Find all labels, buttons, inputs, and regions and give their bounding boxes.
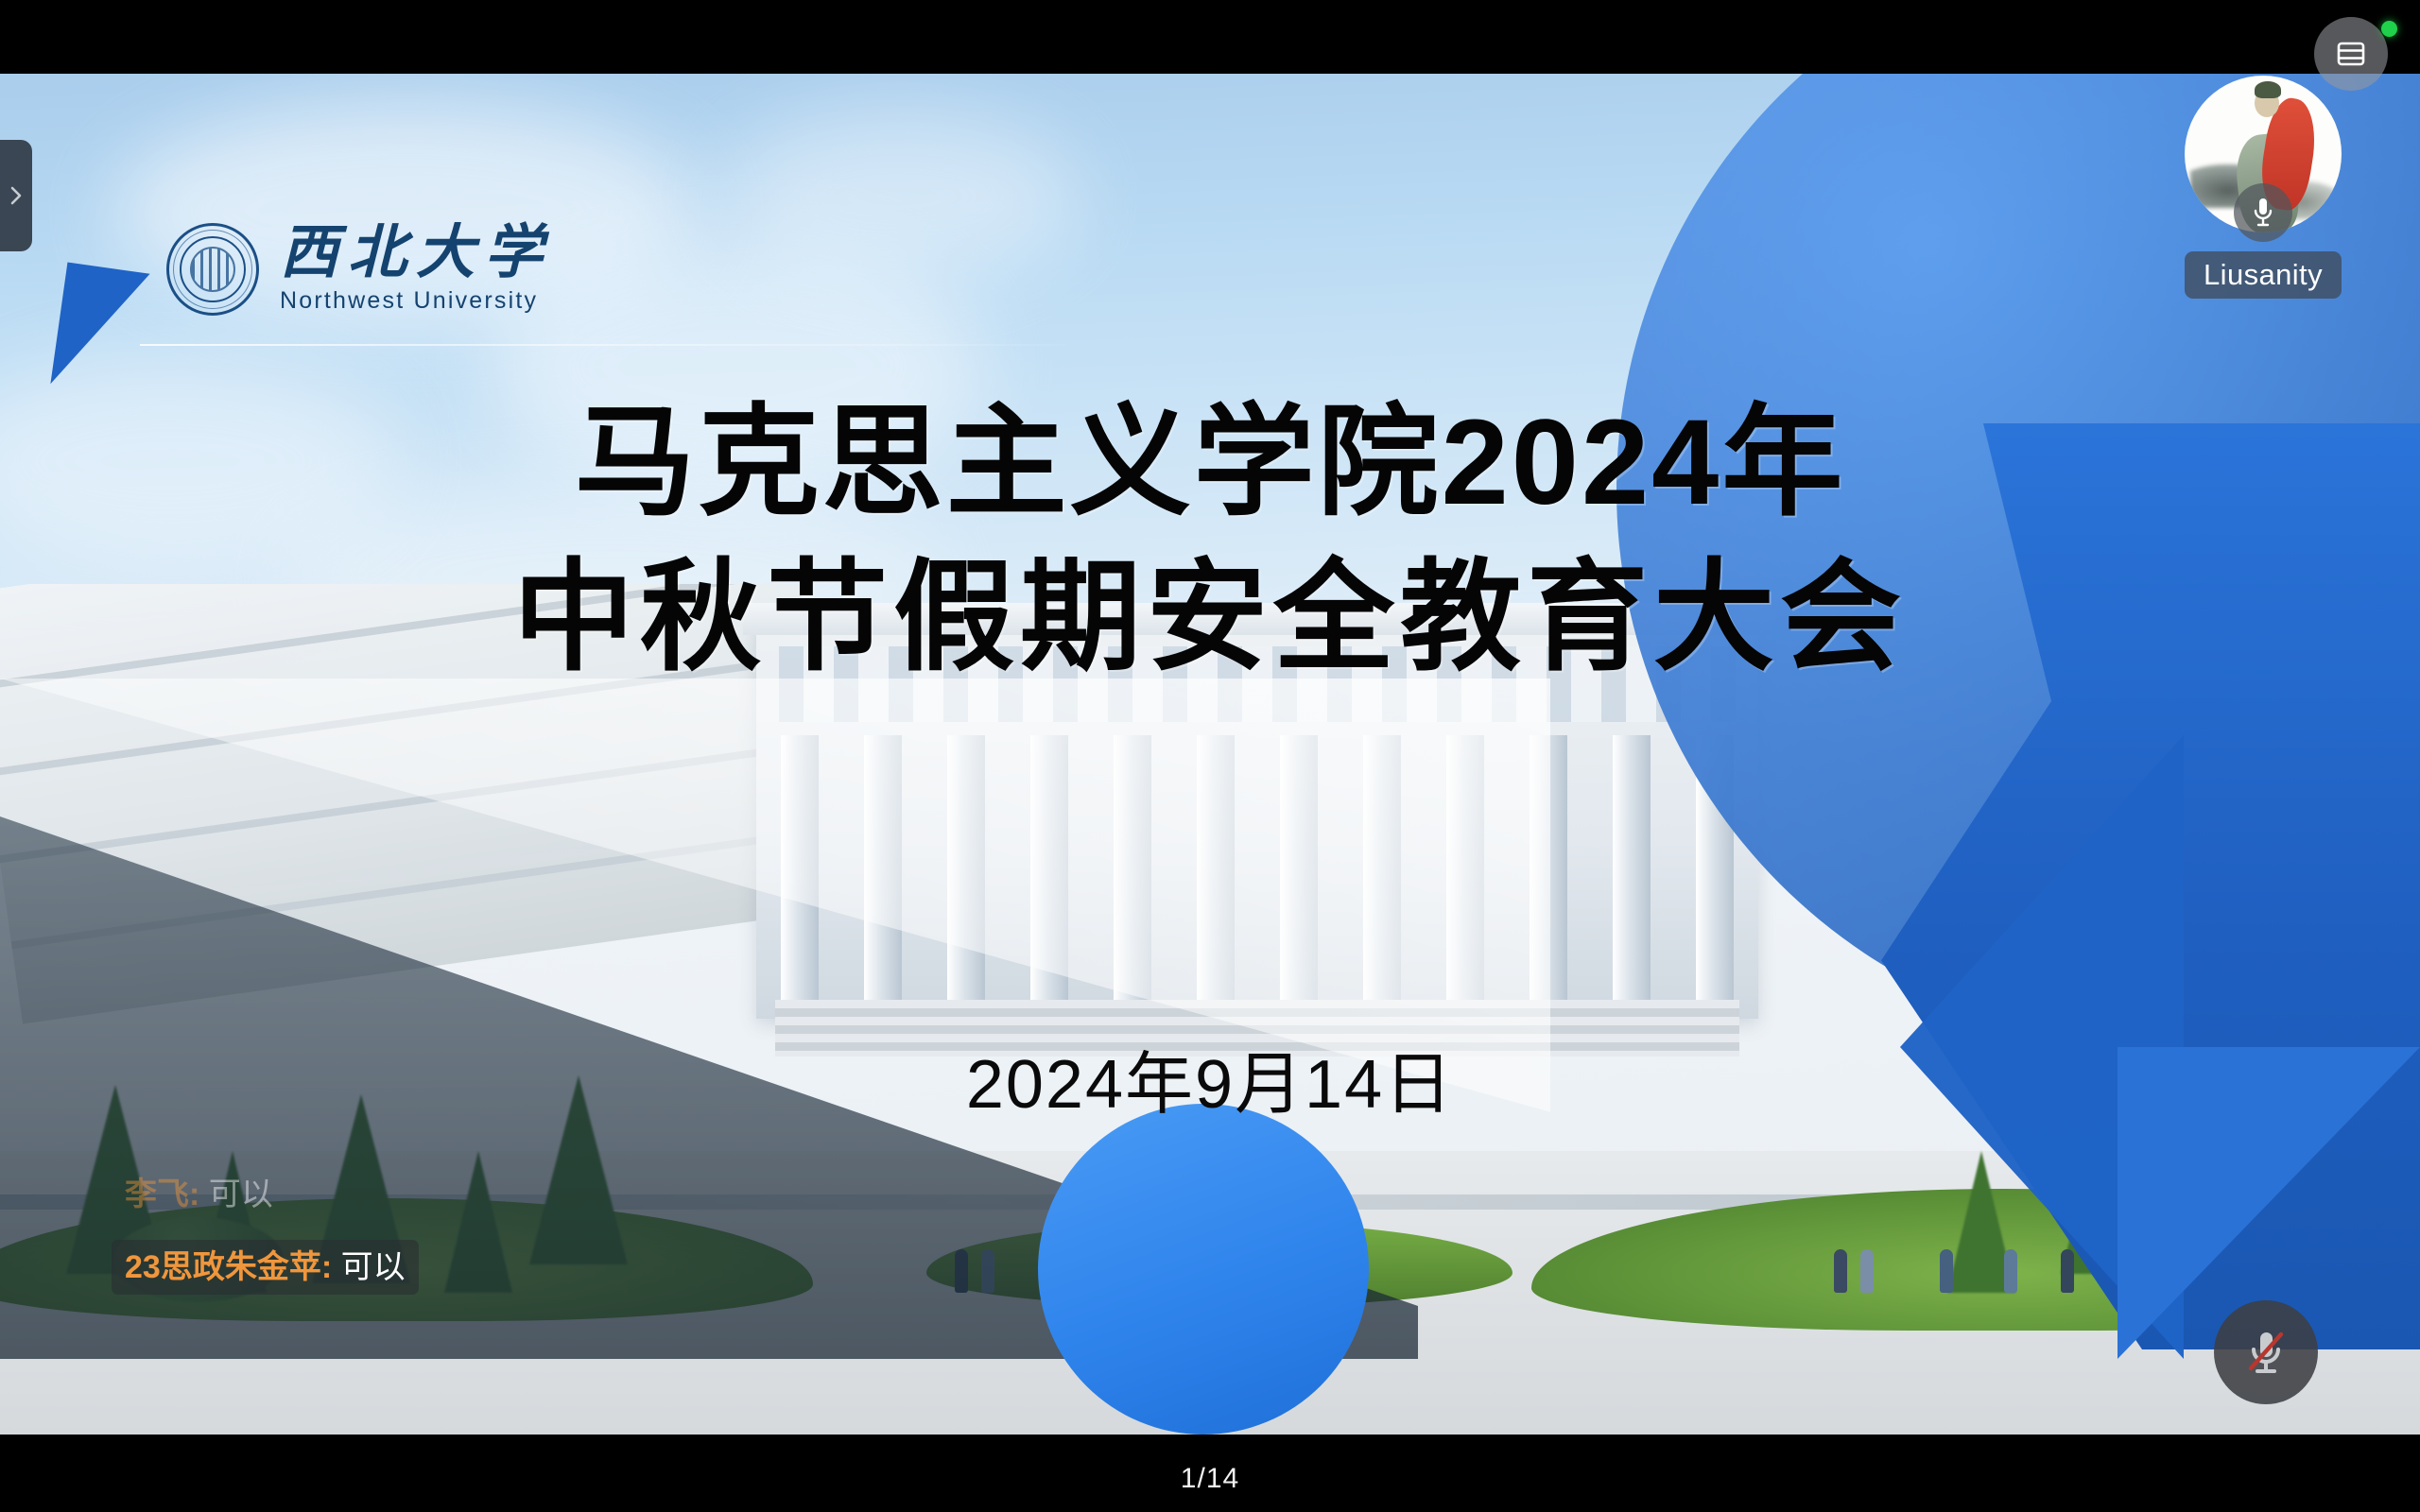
logo-divider	[140, 344, 1066, 346]
decorative-triangle	[50, 263, 149, 396]
participant-name: Liusanity	[2185, 251, 2342, 299]
decorative-circle-bottom	[1038, 1104, 1369, 1435]
chat-text: 可以	[341, 1249, 406, 1285]
slide-title-block: 马克思主义学院2024年 中秋节假期安全教育大会	[0, 386, 2420, 696]
university-logo: 西北大学 Northwest University	[166, 223, 552, 316]
cloud-decoration	[718, 112, 1078, 282]
shared-slide[interactable]: 西北大学 Northwest University 马克思主义学院2024年 中…	[0, 74, 2420, 1435]
chat-separator: :	[321, 1249, 341, 1285]
microphone-muted-icon	[2239, 1323, 2292, 1382]
slide-title-line-1: 马克思主义学院2024年	[0, 386, 2420, 541]
person	[1860, 1249, 1874, 1293]
university-seal-icon	[166, 223, 259, 316]
slide-page-indicator: 1/14	[0, 1463, 2420, 1495]
chat-message: 李飞: 可以	[112, 1167, 286, 1223]
chevron-right-icon	[8, 181, 25, 210]
chat-sender: 李飞	[125, 1177, 189, 1212]
university-name-en: Northwest University	[280, 287, 552, 315]
chat-message: 23思政朱金苹: 可以	[112, 1240, 419, 1296]
chat-sender: 23思政朱金苹	[125, 1249, 321, 1285]
microphone-icon	[2251, 196, 2275, 230]
chat-separator: :	[189, 1177, 209, 1212]
mute-toggle-button[interactable]	[2214, 1300, 2318, 1404]
recording-indicator-dot	[2381, 21, 2397, 37]
meeting-screen: 西北大学 Northwest University 马克思主义学院2024年 中…	[0, 0, 2420, 1512]
participant-tile[interactable]: Liusanity	[2178, 76, 2348, 302]
person	[1834, 1249, 1847, 1293]
university-name-cn: 西北大学	[280, 224, 552, 283]
chat-text: 可以	[209, 1177, 273, 1212]
chat-overlay: 李飞: 可以 23思政朱金苹: 可以	[112, 1167, 419, 1295]
layout-view-icon	[2332, 35, 2370, 73]
participant-mic-badge	[2234, 183, 2292, 242]
slide-title-line-2: 中秋节假期安全教育大会	[0, 541, 2420, 696]
slide-date: 2024年9月14日	[0, 1028, 2420, 1127]
side-panel-toggle[interactable]	[0, 140, 32, 251]
